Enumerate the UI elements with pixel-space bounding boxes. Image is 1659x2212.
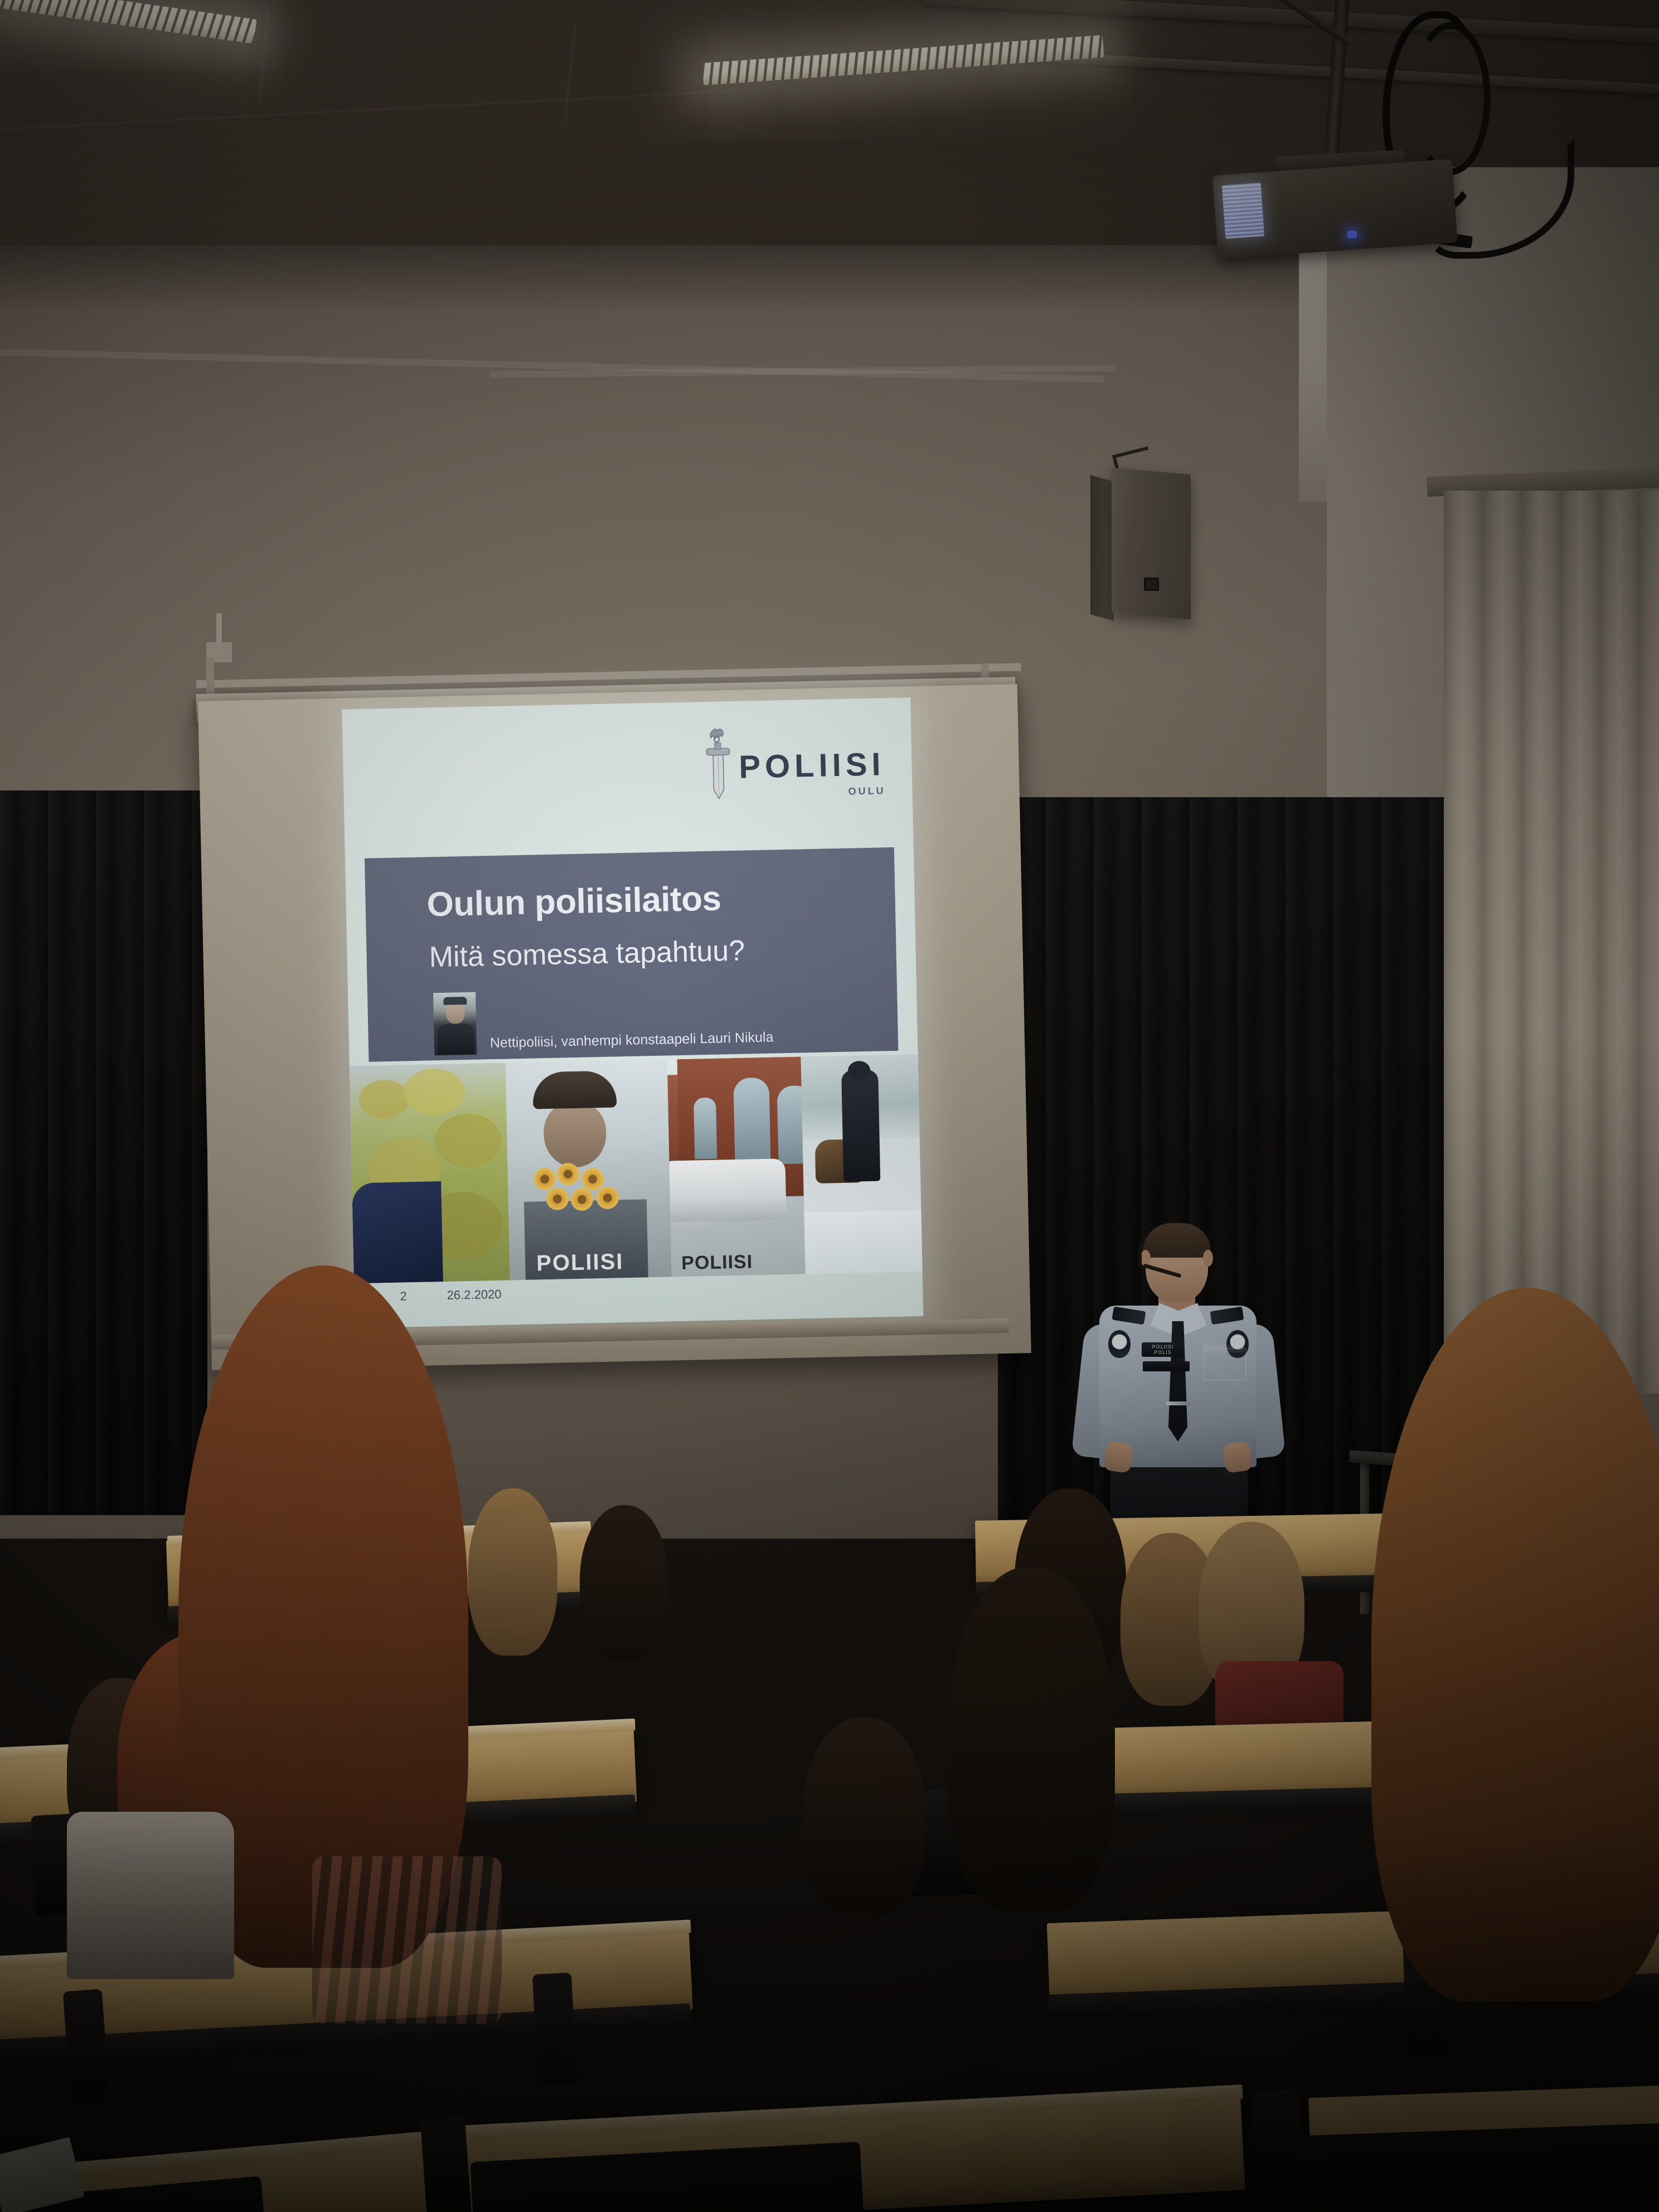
collage-poliisi-vehicle-text-right: POLIISI <box>681 1251 753 1274</box>
slide-page-number: 2 <box>400 1289 407 1303</box>
seat-armrest[interactable] <box>420 2117 472 2212</box>
presenter-ear-right <box>1203 1250 1213 1267</box>
poliisi-wordmark: POLIISI OULU <box>739 748 886 799</box>
slide-photo-collage: POLIISI POLIISI <box>350 1054 923 1283</box>
sunflower-bouquet <box>530 1162 637 1215</box>
badge-text-fi: POLIISI <box>1152 1345 1174 1350</box>
presenter-tie-clip <box>1166 1401 1191 1405</box>
seat-armrest[interactable] <box>1253 2090 1303 2198</box>
sword-and-lion-emblem-icon <box>705 727 732 806</box>
presenter-right-hand <box>1223 1441 1253 1473</box>
presenter-chest-badge: POLIISI POLIS <box>1142 1342 1184 1357</box>
collage-image-autumn <box>350 1063 510 1284</box>
audience-person-head <box>580 1505 669 1661</box>
collage-poliisi-vehicle-text-left: POLIISI <box>536 1249 624 1276</box>
presenter-thumbnail-photo <box>433 992 477 1056</box>
poliisi-logo: POLIISI OULU <box>705 724 886 806</box>
audience-light-jacket <box>67 1812 234 1979</box>
lecture-hall-scene: POLIISI OULU Oulun poliisilaitos Mitä so… <box>0 0 1659 2212</box>
conduit-pipe <box>216 613 222 646</box>
seat-armrest[interactable] <box>532 1972 577 2085</box>
speaker-brand-logo-icon <box>1144 578 1159 591</box>
collage-image-k9-officer-snow <box>801 1054 923 1274</box>
seat-armrest[interactable] <box>63 1989 110 2108</box>
presenter-chest-pocket <box>1203 1348 1246 1380</box>
projector-power-led <box>1347 231 1357 238</box>
presenter-shoulder-patch-left <box>1108 1330 1131 1358</box>
logo-poliisi-text: POLIISI <box>739 748 885 783</box>
stage-curtain-left <box>0 790 207 1515</box>
projector-lens <box>1222 183 1265 239</box>
presentation-slide: POLIISI OULU Oulun poliisilaitos Mitä so… <box>342 697 923 1328</box>
audience-person-head <box>948 1566 1115 1912</box>
slide-title: Oulun poliisilaitos <box>426 879 721 924</box>
police-cap-icon <box>532 1070 617 1109</box>
presenter-name-tag <box>1143 1361 1190 1371</box>
audience-person-head <box>468 1488 557 1656</box>
audience-person-head <box>803 1717 925 1918</box>
audience-seating-area <box>0 1500 1659 2212</box>
collage-image-officer-with-flowers: POLIISI <box>506 1060 672 1280</box>
collage-police-light-bar <box>352 1181 443 1283</box>
slide-subtitle: Mitä somessa tapahtuu? <box>429 934 745 974</box>
logo-oulu-text: OULU <box>848 785 885 797</box>
slide-date: 26.2.2020 <box>447 1287 501 1303</box>
seat-back[interactable] <box>1297 2123 1659 2212</box>
presenter-left-hand <box>1103 1441 1134 1473</box>
slide-presenter-caption: Nettipoliisi, vanhempi konstaapeli Lauri… <box>490 1030 774 1052</box>
badge-text-sv: POLIS <box>1154 1350 1172 1355</box>
window-curtain[interactable] <box>1444 491 1659 1394</box>
wall-speaker <box>1112 468 1191 619</box>
slide-footer: 2 26.2.2020 <box>400 1287 502 1304</box>
slide-title-band: Oulun poliisilaitos Mitä somessa tapahtu… <box>365 847 898 1062</box>
wall-speaker-side <box>1090 475 1114 621</box>
collage-image-police-station: POLIISI <box>667 1056 806 1277</box>
wall-shadow <box>0 245 1366 312</box>
presenter-chest-pocket-flap <box>1203 1345 1244 1352</box>
audience-striped-shirt <box>312 1856 502 2024</box>
screen-bracket <box>206 658 214 697</box>
